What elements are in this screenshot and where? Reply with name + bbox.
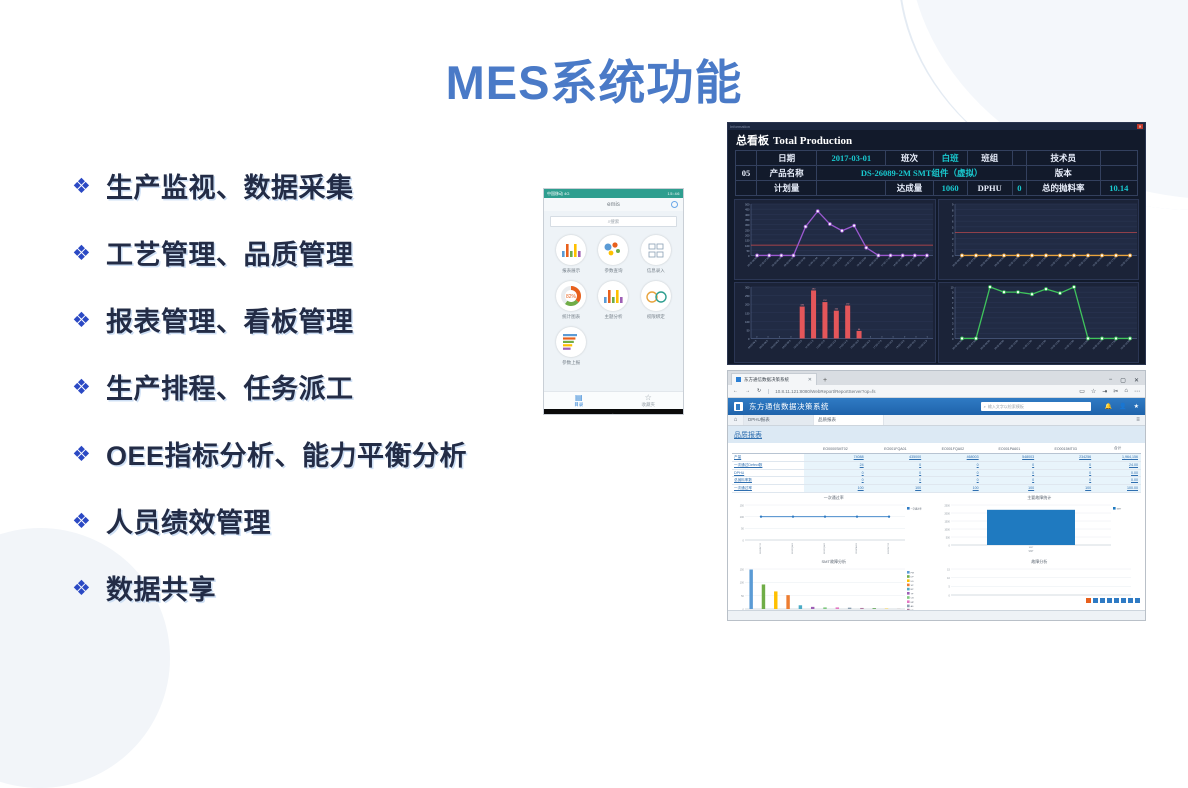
svg-text:10:00-10:59: 10:00-10:59: [1008, 257, 1019, 268]
svg-text:450: 450: [745, 208, 750, 212]
svg-text:EO0000SMT02: EO0000SMT02: [760, 542, 762, 554]
notes-icon[interactable]: ✂: [1113, 388, 1118, 395]
column-header: [732, 445, 804, 453]
table-row: 05产品名称DS-26089-2M SMT组件（虚拟）版本: [736, 166, 1138, 181]
chart-fault-analysis-title: 故障分析: [937, 559, 1143, 565]
svg-text:2000: 2000: [944, 512, 950, 515]
share-icon[interactable]: ⇥: [1102, 388, 1107, 395]
svg-text:09:00-09:5: 09:00-09:5: [782, 340, 792, 350]
svg-text:2: 2: [952, 327, 954, 331]
chart-orange-line[interactable]: 012345678906:00-06:5907:00-07:5908:00-08…: [938, 199, 1140, 280]
export-icon[interactable]: [1086, 598, 1091, 603]
svg-text:1: 1: [952, 248, 954, 252]
star-icon[interactable]: ★: [1134, 403, 1139, 410]
svg-text:12:00-12:5: 12:00-12:5: [816, 340, 826, 350]
gear-icon[interactable]: [671, 201, 678, 208]
svg-text:15:00-15:59: 15:00-15:59: [1078, 257, 1089, 268]
svg-text:07:00-07:59: 07:00-07:59: [760, 257, 771, 268]
svg-text:250: 250: [745, 294, 750, 298]
svg-text:50: 50: [747, 249, 750, 253]
dashboard-window-title: Information: [730, 124, 750, 129]
table-cell: 548003: [982, 453, 1037, 461]
window-controls: −▢✕: [1103, 377, 1145, 385]
table-cell: 总的抛料率: [1027, 181, 1101, 196]
column-chart-icon: [598, 281, 628, 311]
list-icon: ▤: [544, 393, 614, 402]
svg-text:18:00-18:5: 18:00-18:5: [885, 340, 895, 350]
phone-grid-item[interactable]: 参数查询: [592, 235, 634, 274]
report-chart-grid: 一次通过率 050100150EO0000SMT02EO001FQA01EO00…: [728, 493, 1145, 622]
svg-text:08:00-08:59: 08:00-08:59: [980, 257, 991, 268]
table-cell: [736, 151, 757, 166]
browser-address-bar: ← → ↻ 10.8.11.121:8080/WebReport/ReportS…: [728, 385, 1145, 398]
print-icon[interactable]: [1107, 598, 1112, 603]
table-cell: [1100, 151, 1137, 166]
table-cell: [736, 181, 757, 196]
table-cell: 100.00: [1094, 484, 1141, 492]
browser-tab-label: 东方通信数据决策系统: [744, 377, 789, 383]
phone-tab-label: 收藏夹: [642, 402, 656, 407]
gauge-icon: [641, 281, 671, 311]
svg-text:06:30-06:5: 06:30-06:5: [760, 340, 770, 350]
new-tab-button[interactable]: +: [817, 377, 833, 385]
phone-title-bar: emis: [544, 198, 683, 211]
svg-text:08:00-08:5: 08:00-08:5: [771, 340, 781, 350]
chart-red-bars[interactable]: 0501001502002503000000186280212162192440…: [734, 282, 936, 363]
bullet-label: 人员绩效管理: [106, 501, 271, 540]
bell-icon[interactable]: 🔔: [1105, 403, 1112, 410]
diamond-bullet-icon: ❖: [72, 576, 106, 599]
table-cell: 0: [1037, 476, 1094, 484]
close-icon[interactable]: ✕: [1134, 377, 1139, 384]
table-cell: 计划量: [756, 181, 816, 196]
table-cell: 产品名称: [756, 166, 816, 181]
phone-nav-bar: ◁◯▢: [544, 409, 683, 415]
app-tab[interactable]: DPHU报表: [744, 415, 814, 425]
table-cell: 班次: [886, 151, 933, 166]
bubble-chart-icon: [598, 235, 628, 265]
image-icon[interactable]: [1121, 598, 1126, 603]
svg-text:17:00-17:59: 17:00-17:59: [1106, 340, 1117, 351]
svg-text:13:00-13:59: 13:00-13:59: [833, 257, 844, 268]
svg-text:16:00-16:59: 16:00-16:59: [1092, 340, 1103, 351]
phone-tab-favorites[interactable]: ☆收藏夹: [614, 393, 684, 408]
table-cell: 版本: [1027, 166, 1101, 181]
search-icon: ⌕: [984, 404, 986, 409]
svg-text:16:00-16:59: 16:00-16:59: [1092, 257, 1103, 268]
svg-text:07:00-07:59: 07:00-07:59: [966, 257, 977, 268]
table-cell: 技术员: [1027, 151, 1101, 166]
svg-text:08:00-08:59: 08:00-08:59: [980, 340, 991, 351]
table-cell: 435000: [867, 453, 925, 461]
table-cell: 0: [924, 469, 982, 476]
table-cell: 1060: [933, 181, 967, 196]
svg-text:150: 150: [745, 239, 750, 243]
svg-text:10:00-10:5: 10:00-10:5: [794, 340, 804, 350]
svg-text:50: 50: [747, 328, 750, 332]
table-row: 日期2017-03-01班次白班班组技术员: [736, 151, 1138, 166]
svg-text:MP: MP: [911, 601, 915, 603]
svg-text:13:00-13:59: 13:00-13:59: [1050, 340, 1061, 351]
svg-text:09:00-09:59: 09:00-09:59: [784, 257, 795, 268]
svg-text:300: 300: [745, 286, 750, 290]
table-cell: 0: [867, 461, 925, 469]
table-cell: [1012, 151, 1026, 166]
svg-text:100: 100: [745, 320, 750, 324]
phone-content: ⌕ 搜索 报表展示参数查询信息录入82%统计图表主题分析权限绑定参数上报: [544, 211, 683, 391]
svg-text:9: 9: [952, 203, 954, 207]
bullet-label: 生产排程、任务派工: [106, 367, 354, 406]
svg-text:50: 50: [741, 594, 744, 597]
row-label: 一次通过Defect数: [732, 461, 804, 469]
table-cell: 2017-03-01: [817, 151, 886, 166]
phone-grid-label: 报表展示: [562, 268, 580, 274]
svg-text:5: 5: [952, 311, 954, 315]
svg-text:11:00-11:59: 11:00-11:59: [1022, 340, 1032, 350]
svg-text:PM: PM: [911, 572, 914, 574]
app-header: 东方通信数据决策系统 ⌕ 输入文字以检索模板 🔔 👤 ★: [728, 398, 1145, 415]
column-header: EO001FQA01: [867, 445, 925, 453]
svg-text:150: 150: [740, 504, 745, 507]
chart-pass-rate[interactable]: 一次通过率 050100150EO0000SMT02EO001FQA01EO00…: [731, 495, 937, 559]
hub-icon[interactable]: ⌂: [1124, 388, 1128, 395]
table-cell: 234256: [1037, 453, 1094, 461]
table-row: 总抛料率数000000.00: [732, 476, 1141, 484]
dashboard-heading-cn: 总看板: [736, 135, 769, 147]
svg-text:一次通过率: 一次通过率: [911, 506, 923, 510]
svg-text:11:00-11:59: 11:00-11:59: [809, 257, 819, 267]
svg-text:10: 10: [950, 286, 953, 290]
minimize-icon[interactable]: −: [1109, 377, 1113, 384]
svg-text:12:00-12:59: 12:00-12:59: [1036, 340, 1047, 351]
reload-icon[interactable]: ↻: [757, 388, 761, 394]
svg-text:EO0015MT03: EO0015MT03: [888, 542, 890, 554]
favicon-icon: [736, 377, 741, 382]
app-tab[interactable]: 品质报表: [814, 415, 884, 425]
svg-text:14:00-14:59: 14:00-14:59: [845, 257, 856, 268]
app-header-icons: 🔔 👤 ★: [1105, 403, 1139, 410]
browser-status-bar: [728, 610, 1145, 620]
svg-text:300: 300: [745, 223, 750, 227]
recents-nav-icon[interactable]: ▢: [656, 413, 664, 415]
dashboard-heading-en: Total Production: [773, 135, 852, 147]
forward-icon[interactable]: →: [745, 388, 750, 394]
svg-text:06:00-06:59: 06:00-06:59: [952, 340, 963, 351]
phone-grid-item[interactable]: 信息录入: [635, 235, 677, 274]
svg-text:EO001FQA02: EO001FQA02: [823, 542, 826, 554]
svg-text:10: 10: [947, 576, 950, 579]
svg-text:06:00-06:59: 06:00-06:59: [748, 257, 759, 268]
row-label: DPHU: [732, 469, 804, 476]
svg-text:14:00-14:5: 14:00-14:5: [839, 340, 849, 350]
svg-text:11:00-11:5: 11:00-11:5: [805, 340, 814, 349]
back-nav-icon[interactable]: ◁: [563, 413, 569, 415]
column-header: EO001FQA02: [924, 445, 982, 453]
svg-text:0: 0: [748, 337, 750, 341]
bullet-label: 生产监视、数据采集: [106, 166, 354, 205]
svg-text:2: 2: [952, 243, 954, 247]
table-cell: 100: [804, 484, 867, 492]
table-row: DPHU000000.00: [732, 469, 1141, 476]
svg-text:50: 50: [741, 527, 744, 530]
svg-text:SP: SP: [911, 585, 914, 587]
dashboard-heading: 总看板Total Production: [728, 130, 1145, 150]
svg-text:500: 500: [745, 203, 750, 207]
svg-text:11:00-11:59: 11:00-11:59: [1022, 257, 1032, 267]
svg-text:9: 9: [952, 291, 954, 295]
table-cell: 0: [1037, 461, 1094, 469]
svg-text:14:00-14:59: 14:00-14:59: [1064, 340, 1075, 351]
close-icon[interactable]: ✕: [808, 377, 812, 383]
svg-text:19:00-19:59: 19:00-19:59: [905, 257, 916, 268]
svg-text:15: 15: [947, 568, 950, 571]
svg-text:8: 8: [952, 296, 954, 300]
phone-grid-item[interactable]: 82%统计图表: [550, 281, 592, 320]
search-input[interactable]: ⌕ 搜索: [550, 216, 677, 227]
table-cell: 0: [804, 469, 867, 476]
svg-text:0: 0: [948, 544, 950, 547]
svg-text:82%: 82%: [566, 294, 577, 300]
table-cell: 0.00: [1094, 469, 1141, 476]
svg-text:06:00-06:5: 06:00-06:5: [748, 340, 758, 350]
diamond-bullet-icon: ❖: [72, 174, 106, 197]
phone-clock-label: 15:46: [667, 191, 680, 196]
svg-text:US: US: [911, 580, 915, 582]
phone-grid-label: 主题分析: [604, 314, 622, 320]
back-icon[interactable]: ←: [733, 388, 738, 394]
svg-text:100: 100: [740, 515, 745, 518]
svg-text:SMT: SMT: [1116, 508, 1121, 510]
table-row: 计划量达成量1060DPHU0总的抛料率10.14: [736, 181, 1138, 196]
svg-text:7: 7: [952, 214, 954, 218]
phone-grid-label: 参数上报: [562, 360, 580, 366]
table-cell: 0: [804, 476, 867, 484]
svg-text:14:00-14:59: 14:00-14:59: [1064, 257, 1075, 268]
svg-text:0: 0: [948, 594, 950, 597]
table-cell: 达成量: [886, 181, 933, 196]
svg-text:350: 350: [745, 218, 750, 222]
diamond-bullet-icon: ❖: [72, 308, 106, 331]
svg-text:08:00-08:59: 08:00-08:59: [772, 257, 783, 268]
svg-text:BP: BP: [911, 589, 914, 591]
table-cell: 班组: [967, 151, 1012, 166]
stacked-bar-icon: [556, 327, 586, 357]
table-cell: 0: [867, 476, 925, 484]
flag-logo-icon: [734, 402, 743, 411]
pdf-icon[interactable]: [1093, 598, 1098, 603]
more-icon[interactable]: ⋯: [1134, 388, 1140, 395]
svg-text:3: 3: [952, 237, 954, 241]
bullet-item: ❖数据共享: [72, 554, 632, 621]
table-cell: 100: [1037, 484, 1094, 492]
page-title: MES系统功能: [0, 44, 1188, 113]
svg-text:250: 250: [745, 228, 750, 232]
phone-tab-bar: ▤目录☆收藏夹: [544, 391, 683, 409]
template-search-placeholder: 输入文字以检索模板: [988, 404, 1024, 410]
form-icon: [641, 235, 671, 265]
phone-tab-catalog[interactable]: ▤目录: [544, 393, 614, 408]
svg-text:15:00-15:5: 15:00-15:5: [851, 340, 861, 350]
bullet-item: ❖OEE指标分析、能力平衡分析: [72, 420, 632, 487]
svg-text:07:00-07:59: 07:00-07:59: [966, 340, 977, 351]
svg-text:16:00-16:59: 16:00-16:59: [869, 257, 880, 268]
svg-text:AS: AS: [911, 605, 914, 608]
close-icon[interactable]: ✕: [1137, 124, 1143, 129]
svg-text:4: 4: [952, 231, 954, 235]
chart-smt-fault-title: SMT故障分析: [731, 559, 937, 565]
table-cell: 0: [982, 476, 1037, 484]
svg-text:10:00-10:59: 10:00-10:59: [796, 257, 807, 268]
table-cell: DPHU: [967, 181, 1012, 196]
svg-text:0: 0: [748, 254, 750, 258]
hamburger-icon[interactable]: ≡: [1131, 415, 1145, 425]
table-cell: [817, 181, 886, 196]
chart-pass-rate-title: 一次通过率: [731, 495, 937, 501]
filter-icon[interactable]: [1128, 598, 1133, 603]
refresh-icon[interactable]: [1135, 598, 1140, 603]
svg-text:1: 1: [952, 332, 954, 336]
svg-text:100: 100: [745, 244, 750, 248]
table-cell: 100: [867, 484, 925, 492]
home-nav-icon[interactable]: ◯: [608, 413, 617, 415]
table-cell: 0: [982, 461, 1037, 469]
phone-app-title: emis: [607, 202, 620, 208]
chart-main-fault[interactable]: 主要故障统计 05001000150020002500SMTSMTSMT: [937, 495, 1143, 559]
svg-text:0: 0: [952, 337, 954, 341]
dashboard-title-bar: Information ✕: [728, 123, 1145, 130]
app-tab-bar: ⌂ DPHU报表品质报表≡: [728, 415, 1145, 426]
svg-text:3: 3: [952, 322, 954, 326]
table-cell: 0: [1037, 469, 1094, 476]
browser-toolbar-icons: ▭☆⇥✂⌂⋯: [1079, 388, 1140, 395]
bullet-item: ❖人员绩效管理: [72, 487, 632, 554]
phone-tab-label: 目录: [574, 402, 583, 407]
svg-text:400: 400: [745, 213, 750, 217]
table-cell: DS-26089-2M SMT组件（虚拟）: [817, 166, 1027, 181]
table-cell: 100: [982, 484, 1037, 492]
chart-green-line[interactable]: 01234567891006:00-06:5907:00-07:5908:00-…: [938, 282, 1140, 363]
svg-text:17:00-17:59: 17:00-17:59: [881, 257, 892, 268]
svg-text:500: 500: [945, 536, 950, 539]
phone-grid-item[interactable]: 权限绑定: [635, 281, 677, 320]
row-label: 一次通过率: [732, 484, 804, 492]
svg-text:1500: 1500: [944, 520, 950, 523]
svg-text:EO001PA601: EO001PA601: [855, 542, 858, 554]
svg-text:21:00-21:5: 21:00-21:5: [919, 340, 929, 350]
svg-text:18:00-18:59: 18:00-18:59: [1120, 257, 1131, 268]
column-header: 合计: [1094, 445, 1141, 453]
svg-text:100: 100: [740, 581, 745, 584]
table-cell: 0: [982, 469, 1037, 476]
svg-text:15:00-15:59: 15:00-15:59: [1078, 340, 1089, 351]
row-label: 总抛料率数: [732, 476, 804, 484]
table-cell: 05: [736, 166, 757, 181]
svg-text:13:00-13:5: 13:00-13:5: [828, 340, 838, 350]
svg-text:150: 150: [740, 568, 745, 571]
table-cell: 10.14: [1100, 181, 1137, 196]
svg-text:15:00-15:59: 15:00-15:59: [857, 257, 868, 268]
svg-text:2500: 2500: [944, 504, 950, 507]
excel-icon[interactable]: [1114, 598, 1119, 603]
address-input[interactable]: 10.8.11.121:8080/WebReport/ReportServer?…: [768, 389, 1072, 394]
svg-text:0: 0: [742, 539, 744, 542]
phone-grid-item[interactable]: 参数上报: [550, 327, 592, 366]
phone-grid-item[interactable]: 主题分析: [592, 281, 634, 320]
column-header: EO0000SMT02: [804, 445, 867, 453]
table-cell: [1100, 166, 1137, 181]
svg-text:13:00-13:59: 13:00-13:59: [1050, 257, 1061, 268]
user-icon[interactable]: 👤: [1119, 403, 1126, 410]
phone-carrier-label: 中国移动 4G: [547, 191, 569, 197]
table-row: 产量740884350004680035480032342561,964,156: [732, 453, 1141, 461]
table-cell: 0.00: [1094, 476, 1141, 484]
diamond-bullet-icon: ❖: [72, 442, 106, 465]
table-cell: 日期: [756, 151, 816, 166]
svg-text:150: 150: [745, 311, 750, 315]
phone-grid-label: 统计图表: [562, 314, 580, 320]
table-cell: 100: [924, 484, 982, 492]
svg-text:09:00-09:59: 09:00-09:59: [994, 340, 1005, 351]
phone-grid-label: 信息录入: [647, 268, 665, 274]
svg-text:20:00-20:59: 20:00-20:59: [918, 257, 929, 268]
svg-text:16:00-16:5: 16:00-16:5: [862, 340, 872, 350]
svg-text:12:00-12:59: 12:00-12:59: [820, 257, 831, 268]
svg-text:0: 0: [952, 254, 954, 258]
table-cell: 白班: [933, 151, 967, 166]
svg-text:09:00-09:59: 09:00-09:59: [994, 257, 1005, 268]
template-search-input[interactable]: ⌕ 输入文字以检索模板: [981, 402, 1091, 411]
table-cell: 0: [924, 461, 982, 469]
mail-icon[interactable]: [1100, 598, 1105, 603]
svg-text:20:00-20:5: 20:00-20:5: [907, 340, 917, 350]
svg-text:200: 200: [745, 303, 750, 307]
chart-main-fault-title: 主要故障统计: [937, 495, 1143, 501]
browser-window: 东方通信数据决策系统 ✕ + −▢✕ ← → ↻ 10.8.11.121:808…: [727, 370, 1146, 621]
table-cell: 0: [924, 476, 982, 484]
diamond-bullet-icon: ❖: [72, 241, 106, 264]
maximize-icon[interactable]: ▢: [1120, 377, 1126, 384]
reading-view-icon[interactable]: ▭: [1079, 388, 1085, 395]
diamond-bullet-icon: ❖: [72, 375, 106, 398]
svg-text:8: 8: [952, 208, 954, 212]
bullet-label: 工艺管理、品质管理: [106, 233, 354, 272]
chart-purple-line[interactable]: 05010015020025030035040045050006:00-06:5…: [734, 199, 936, 280]
svg-text:18:00-18:59: 18:00-18:59: [893, 257, 904, 268]
column-header: EO0015MT03: [1037, 445, 1094, 453]
svg-text:CB: CB: [911, 597, 915, 599]
phone-grid-item[interactable]: 报表展示: [550, 235, 592, 274]
favorite-star-icon[interactable]: ☆: [1091, 388, 1096, 395]
production-info-table: 日期2017-03-01班次白班班组技术员05产品名称DS-26089-2M S…: [735, 150, 1138, 196]
phone-grid-label: 权限绑定: [647, 314, 665, 320]
star-icon: ☆: [614, 393, 684, 402]
mobile-app-mockup: 中国移动 4G 15:46 emis ⌕ 搜索 报表展示参数查询信息录入82%统…: [543, 188, 684, 415]
diamond-bullet-icon: ❖: [72, 509, 106, 532]
table-cell: 24: [804, 461, 867, 469]
bar-chart-icon: [556, 235, 586, 265]
phone-status-bar: 中国移动 4G 15:46: [544, 189, 683, 198]
home-icon[interactable]: ⌂: [728, 415, 744, 425]
table-cell: 468003: [924, 453, 982, 461]
svg-text:EO001FQA01: EO001FQA01: [791, 542, 794, 554]
browser-tab[interactable]: 东方通信数据决策系统 ✕: [731, 373, 817, 385]
svg-text:200: 200: [745, 233, 750, 237]
report-footer-toolbar: [1086, 598, 1140, 603]
svg-text:7: 7: [952, 301, 954, 305]
svg-text:4: 4: [952, 316, 954, 320]
phone-icon-grid: 报表展示参数查询信息录入82%统计图表主题分析权限绑定参数上报: [550, 235, 677, 373]
svg-text:TP: TP: [911, 593, 914, 595]
